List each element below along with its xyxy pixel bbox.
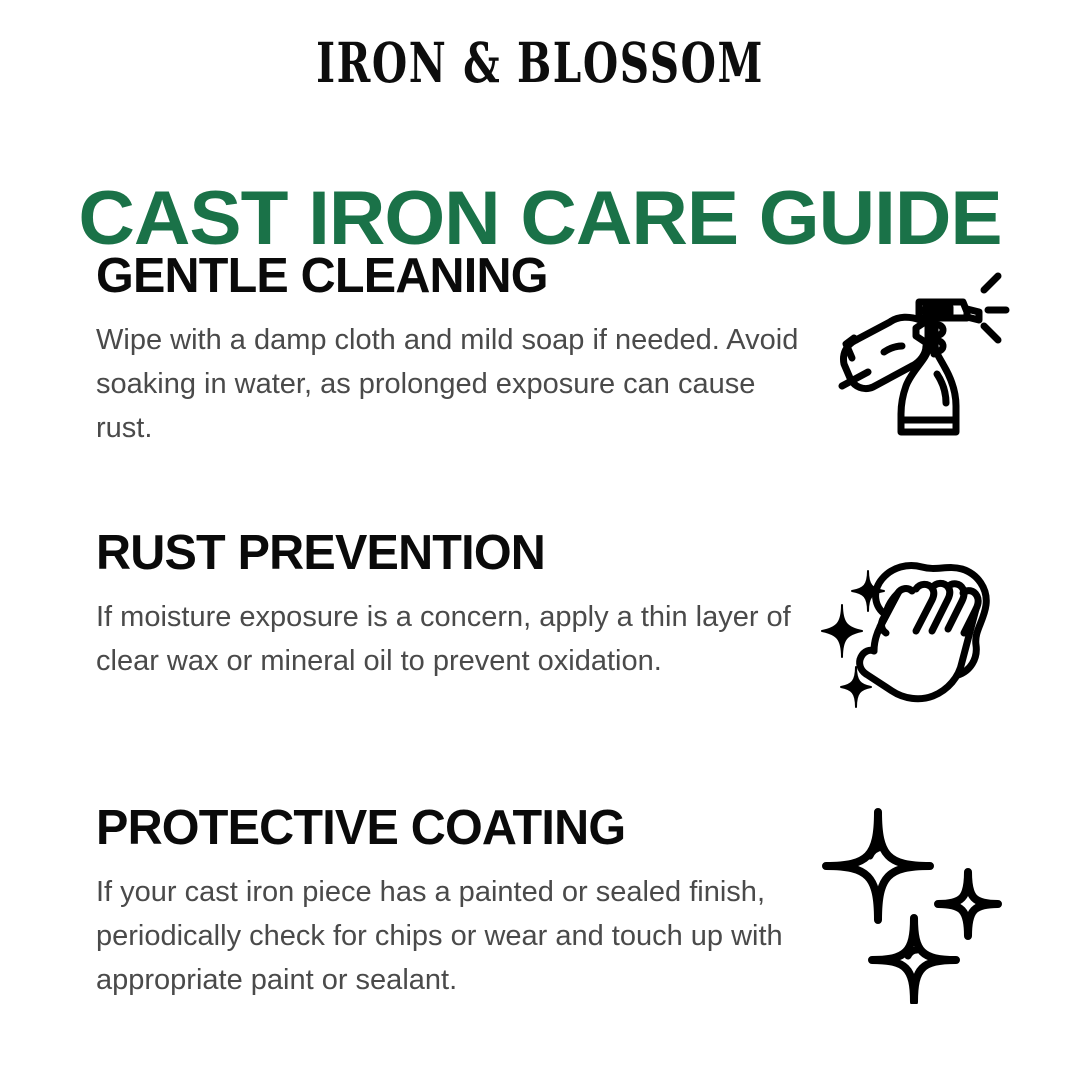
care-section-gentle-cleaning: GENTLE CLEANING Wipe with a damp cloth a… — [96, 248, 984, 454]
section-heading: PROTECTIVE COATING — [96, 800, 801, 856]
section-body: If your cast iron piece has a painted or… — [96, 870, 802, 1002]
sparkles-icon — [816, 804, 1016, 1004]
care-section-rust-prevention: RUST PREVENTION If moisture exposure is … — [96, 525, 984, 731]
section-text-block: RUST PREVENTION If moisture exposure is … — [96, 525, 808, 683]
care-guide-poster: IRON & BLOSSOM CAST IRON CARE GUIDE GENT… — [0, 0, 1080, 1080]
hand-wiping-cloth-icon — [816, 531, 1016, 731]
section-body: Wipe with a damp cloth and mild soap if … — [96, 318, 802, 450]
care-section-protective-coating: PROTECTIVE COATING If your cast iron pie… — [96, 800, 984, 1004]
section-heading: RUST PREVENTION — [96, 525, 801, 581]
section-body: If moisture exposure is a concern, apply… — [96, 595, 802, 683]
section-text-block: GENTLE CLEANING Wipe with a damp cloth a… — [96, 248, 808, 450]
section-heading: GENTLE CLEANING — [96, 248, 801, 304]
section-text-block: PROTECTIVE COATING If your cast iron pie… — [96, 800, 808, 1002]
spray-bottle-icon — [816, 254, 1016, 454]
brand-logo: IRON & BLOSSOM — [119, 32, 961, 96]
